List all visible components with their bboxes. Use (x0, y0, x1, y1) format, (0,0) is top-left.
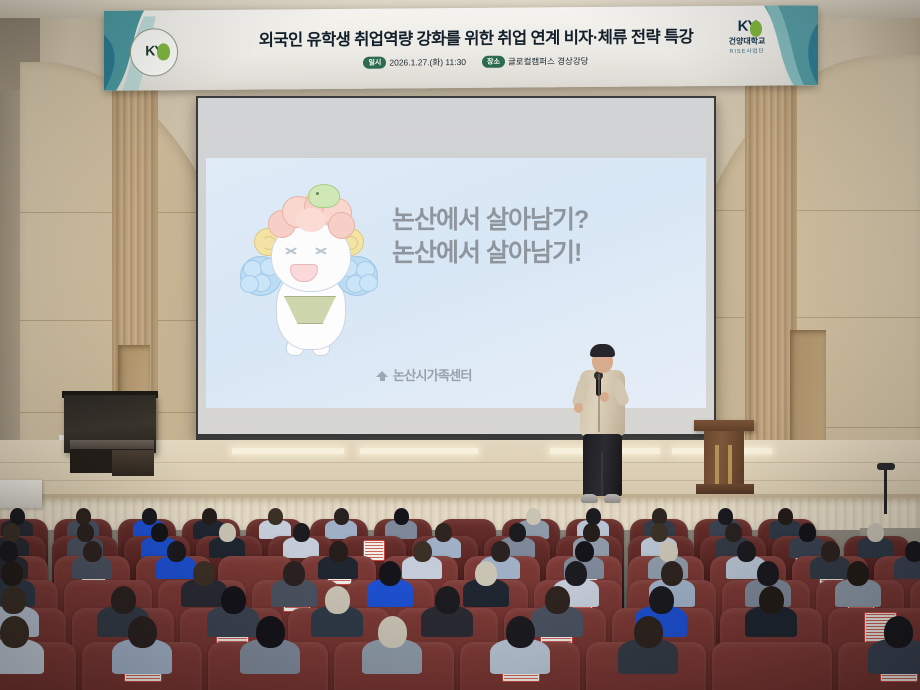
auditorium-seat (712, 642, 832, 690)
podium-base (696, 484, 754, 494)
audience-member-head (799, 523, 816, 542)
audience-member-head (77, 523, 94, 542)
audience-member-head (256, 616, 285, 648)
audience-member-head (1, 561, 23, 586)
audience-member-head (575, 541, 594, 562)
presentation-slide: 논산에서 살아남기? 논산에서 살아남기! 논산시가족센터 (206, 158, 706, 408)
stage-footlight-2 (360, 448, 478, 454)
audience-member-head (219, 523, 236, 542)
place-pill: 장소 (482, 56, 505, 68)
slide-title-line2: 논산에서 살아남기! (392, 237, 692, 270)
sheep-mascot (238, 180, 378, 365)
audience-member-head (757, 561, 779, 586)
audience-member-head (378, 616, 407, 648)
audience-member-head (394, 508, 409, 525)
ky-seal-leaf (157, 43, 170, 60)
audience-member-head (509, 523, 526, 542)
banner-title: 외국인 유학생 취업역량 강화를 위한 취업 연계 비자·체류 전략 특강 (236, 23, 716, 51)
photo-scene: KY 외국인 유학생 취업역량 강화를 위한 취업 연계 비자·체류 전략 특강… (0, 0, 920, 690)
audience-member-head (659, 541, 678, 562)
slide-title-line1: 논산에서 살아남기? (392, 204, 692, 237)
ky-mark: KY (710, 17, 784, 35)
ky-seal-mark: KY (131, 42, 177, 58)
audience-member-head (475, 561, 497, 586)
banner-subtitle: 일시2026.1.27.(화) 11:30장소글로컬캠퍼스 경상강당 (236, 54, 716, 70)
audience-member-head (737, 541, 756, 562)
date-value: 2026.1.27.(화) 11:30 (389, 57, 466, 68)
audience-member-head (167, 541, 186, 562)
audience-member-head (325, 586, 350, 614)
presenter-shoe-right (604, 494, 621, 503)
audience-member-head (142, 508, 157, 525)
mascot-eye-left (285, 246, 296, 255)
pa-speaker-box (0, 480, 42, 508)
nonsan-family-center-logo: 논산시가족센터 (376, 365, 472, 384)
audience-member-head (847, 561, 869, 586)
event-banner: KY 외국인 유학생 취업역량 강화를 위한 취업 연계 비자·체류 전략 특강… (104, 5, 818, 91)
podium-top (694, 420, 754, 431)
audience-member-head (905, 541, 920, 562)
audience-member-head (634, 616, 663, 648)
audience-member-head (193, 561, 215, 586)
slide-title: 논산에서 살아남기? 논산에서 살아남기! (392, 204, 692, 270)
audience-member-head (111, 586, 136, 614)
audience-member-head (0, 541, 18, 562)
audience-member-head (821, 541, 840, 562)
audience-member-head (3, 523, 20, 542)
audience-member-head (221, 586, 246, 614)
audience-member-head (202, 508, 217, 525)
konyang-university-logo: KY 건양대학교 RISE사업단 (710, 17, 784, 55)
audience-member-head (661, 561, 683, 586)
rise-project-name: RISE사업단 (710, 46, 784, 55)
house-icon (376, 368, 389, 381)
audience-member-head (651, 523, 668, 542)
presenter-cap (590, 344, 615, 357)
audience-member-head (379, 561, 401, 586)
audience-member-head (565, 561, 587, 586)
piano-bench (112, 450, 154, 476)
mascot-eye-right (315, 246, 326, 255)
audience-member-head (778, 508, 793, 525)
audience-member-head (329, 541, 348, 562)
audience-member-head (491, 541, 510, 562)
university-name: 건양대학교 (710, 35, 784, 47)
audience-member-head (334, 508, 349, 525)
audience-member-head (128, 616, 157, 648)
stage-footlight-1 (232, 448, 344, 454)
presenter-hand-right (600, 392, 609, 402)
place-value: 글로컬캠퍼스 경상강당 (508, 56, 589, 67)
audience-member-head (413, 541, 432, 562)
wooden-podium (704, 431, 744, 487)
presenter-pants (583, 434, 622, 496)
audience-member-head (867, 523, 884, 542)
audience-member-head (884, 616, 913, 648)
audience-member-head (283, 561, 305, 586)
audience-member-head (1, 586, 26, 614)
audience-member-head (526, 508, 541, 525)
audience-member-head (725, 523, 742, 542)
audience-member-head (151, 523, 168, 542)
presenter-hand-left (574, 403, 583, 413)
audience-member-head (293, 523, 310, 542)
piano-keyboard (70, 440, 154, 449)
slide-logo-text: 논산시가족센터 (393, 365, 472, 384)
audience-member-head (545, 586, 570, 614)
audience-member-head (268, 508, 283, 525)
audience-member-head (0, 616, 29, 648)
audience-member-head (759, 586, 784, 614)
presenter (574, 340, 630, 512)
microphone-stand (884, 468, 887, 514)
audience-member-head (435, 523, 452, 542)
presenter-shoe-left (581, 494, 598, 503)
audience-member-head (435, 586, 460, 614)
date-pill: 일시 (363, 57, 386, 69)
audience-member-head (649, 586, 674, 614)
ky-seal-logo: KY (130, 28, 178, 76)
mascot-bird (308, 184, 340, 208)
audience-member-head (583, 523, 600, 542)
audience-member-head (83, 541, 102, 562)
audience-member-head (506, 616, 535, 648)
